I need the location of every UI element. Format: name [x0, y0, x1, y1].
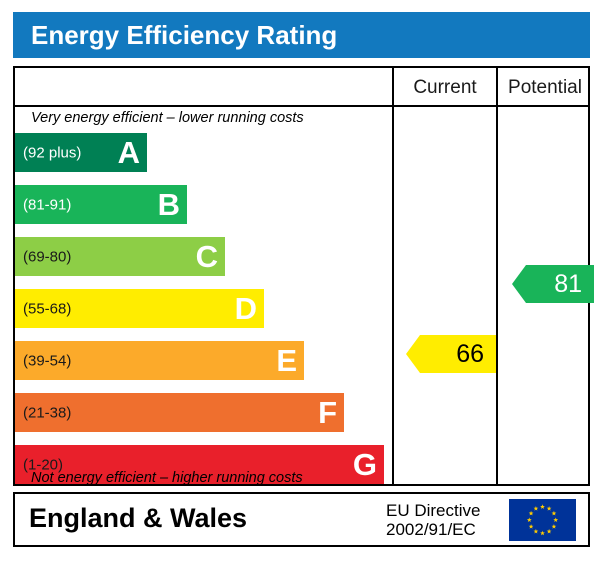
column-divider-potential — [496, 68, 498, 484]
rating-value-potential: 81 — [554, 272, 582, 297]
rating-band-a: (92 plus)A — [15, 133, 147, 172]
region-label: England & Wales — [29, 503, 247, 534]
rating-band-d: (55-68)D — [15, 289, 264, 328]
band-letter-f: F — [318, 396, 337, 427]
band-letter-e: E — [276, 344, 297, 375]
eu-directive-line2: 2002/91/EC — [386, 520, 480, 539]
rating-band-f: (21-38)F — [15, 393, 344, 432]
band-range-d: (55-68) — [23, 300, 71, 317]
eu-directive-line1: EU Directive — [386, 501, 480, 520]
band-range-c: (69-80) — [23, 248, 71, 265]
eu-directive-label: EU Directive 2002/91/EC — [386, 501, 480, 539]
band-letter-a: A — [118, 136, 140, 167]
band-letter-b: B — [158, 188, 180, 219]
band-range-b: (81-91) — [23, 196, 71, 213]
caption-not-efficient: Not energy efficient – higher running co… — [31, 470, 303, 486]
rating-band-b: (81-91)B — [15, 185, 187, 224]
band-letter-c: C — [196, 240, 218, 271]
rating-band-e: (39-54)E — [15, 341, 304, 380]
chart-title-banner: Energy Efficiency Rating — [13, 12, 590, 58]
page-title: Energy Efficiency Rating — [31, 20, 337, 51]
header-separator — [15, 105, 588, 107]
epc-certificate: Energy Efficiency Rating Current Potenti… — [0, 0, 603, 564]
certificate-footer: England & Wales EU Directive 2002/91/EC — [13, 492, 590, 547]
rating-arrow-current: 66 — [406, 335, 496, 373]
band-range-f: (21-38) — [23, 404, 71, 421]
rating-band-c: (69-80)C — [15, 237, 225, 276]
band-letter-g: G — [353, 448, 377, 479]
rating-value-current: 66 — [456, 342, 484, 367]
column-header-current: Current — [394, 75, 496, 101]
column-header-potential: Potential — [498, 75, 592, 101]
band-letter-d: D — [235, 292, 257, 323]
band-range-a: (92 plus) — [23, 144, 81, 161]
band-range-e: (39-54) — [23, 352, 71, 369]
caption-very-efficient: Very energy efficient – lower running co… — [31, 110, 304, 126]
rating-arrow-potential: 81 — [512, 265, 594, 303]
energy-rating-chart: Current Potential Very energy efficient … — [13, 66, 590, 486]
eu-flag-icon — [509, 499, 576, 541]
column-divider-current — [392, 68, 394, 484]
